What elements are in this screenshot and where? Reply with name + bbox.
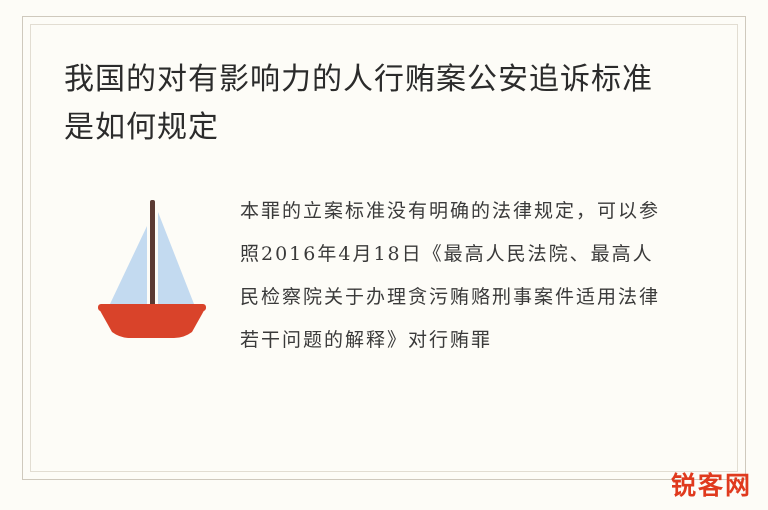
sailboat-illustration — [64, 186, 240, 346]
article-paragraph: 本罪的立案标准没有明确的法律规定，可以参照2016年4月18日《最高人民法院、最… — [240, 186, 670, 362]
watermark-label: 锐客网 — [671, 466, 752, 502]
page-title: 我国的对有影响力的人行贿案公安追诉标准是如何规定 — [64, 56, 664, 152]
document-page: 我国的对有影响力的人行贿案公安追诉标准是如何规定 本罪的立案标准没有明确的法律规… — [0, 0, 768, 510]
document-content: 我国的对有影响力的人行贿案公安追诉标准是如何规定 本罪的立案标准没有明确的法律规… — [30, 24, 738, 472]
sailboat-icon — [64, 186, 240, 346]
article-body: 本罪的立案标准没有明确的法律规定，可以参照2016年4月18日《最高人民法院、最… — [64, 186, 704, 362]
